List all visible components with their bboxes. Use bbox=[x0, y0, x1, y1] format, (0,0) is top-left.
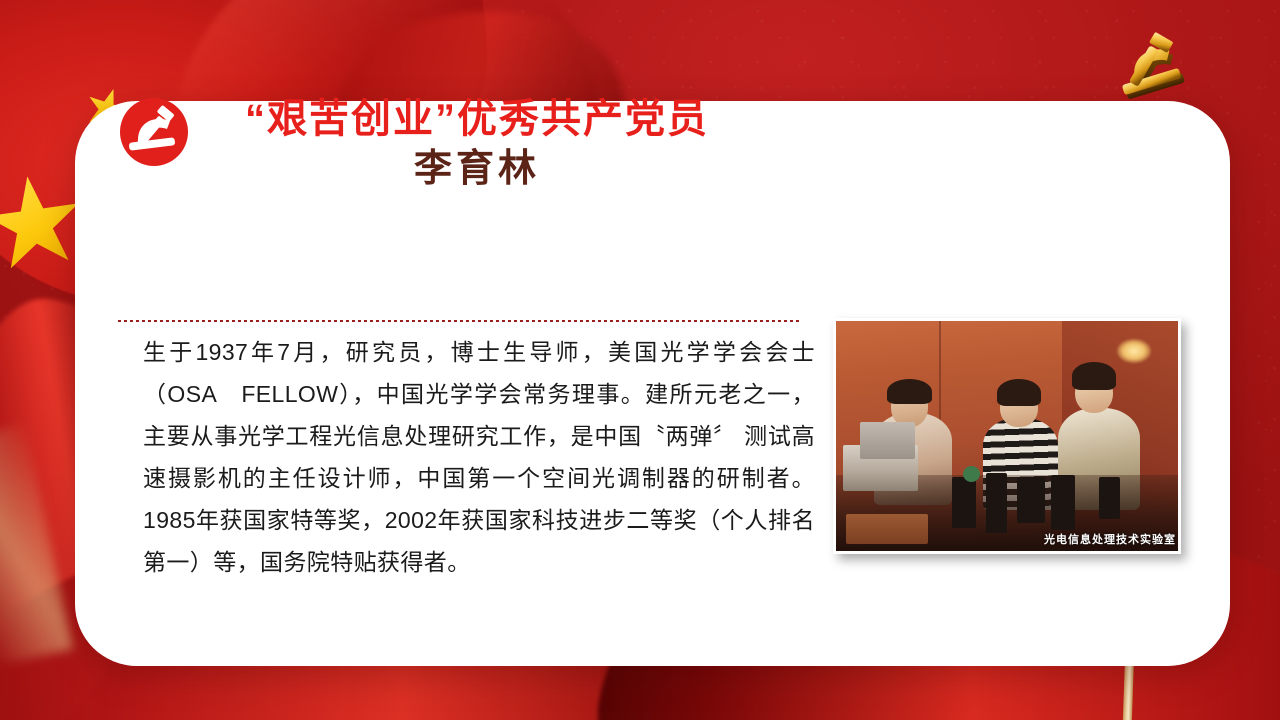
photo-optic-mount-4 bbox=[1051, 475, 1075, 530]
photo-optic-mount-5 bbox=[1099, 477, 1120, 518]
photo-caption: 光电信息处理技术实验室 bbox=[1044, 531, 1178, 547]
photo-person-right-hair bbox=[1072, 362, 1116, 390]
biography-paragraph: 生于1937年7月，研究员，博士生导师，美国光学学会会士（OSA FELLOW）… bbox=[143, 331, 815, 583]
dotted-divider bbox=[118, 320, 802, 322]
photo-optic-mount-1 bbox=[952, 477, 976, 528]
photo-optic-mount-2 bbox=[986, 473, 1007, 533]
photo-optic-mount-3 bbox=[1017, 477, 1044, 523]
photo-image: 光电信息处理技术实验室 bbox=[836, 321, 1178, 551]
photo-person-left-hair bbox=[887, 379, 931, 404]
gold-hammer-sickle-emblem-icon bbox=[1108, 22, 1204, 108]
photo-wood-crate bbox=[846, 514, 928, 544]
photo-metal-case bbox=[860, 422, 915, 459]
photo-lens-green bbox=[963, 466, 980, 482]
photo-lamp bbox=[1117, 339, 1151, 363]
photo-person-center-hair bbox=[997, 379, 1041, 407]
lab-group-photo: 光电信息处理技术实验室 bbox=[833, 318, 1181, 554]
slide-canvas: “艰苦创业”优秀共产党员 李育林 生于1937年7月，研究员，博士生导师，美国光… bbox=[0, 0, 1280, 720]
title-block: “艰苦创业”优秀共产党员 李育林 bbox=[118, 96, 818, 194]
person-name: 李育林 bbox=[136, 146, 818, 194]
page-title: “艰苦创业”优秀共产党员 bbox=[136, 96, 818, 142]
